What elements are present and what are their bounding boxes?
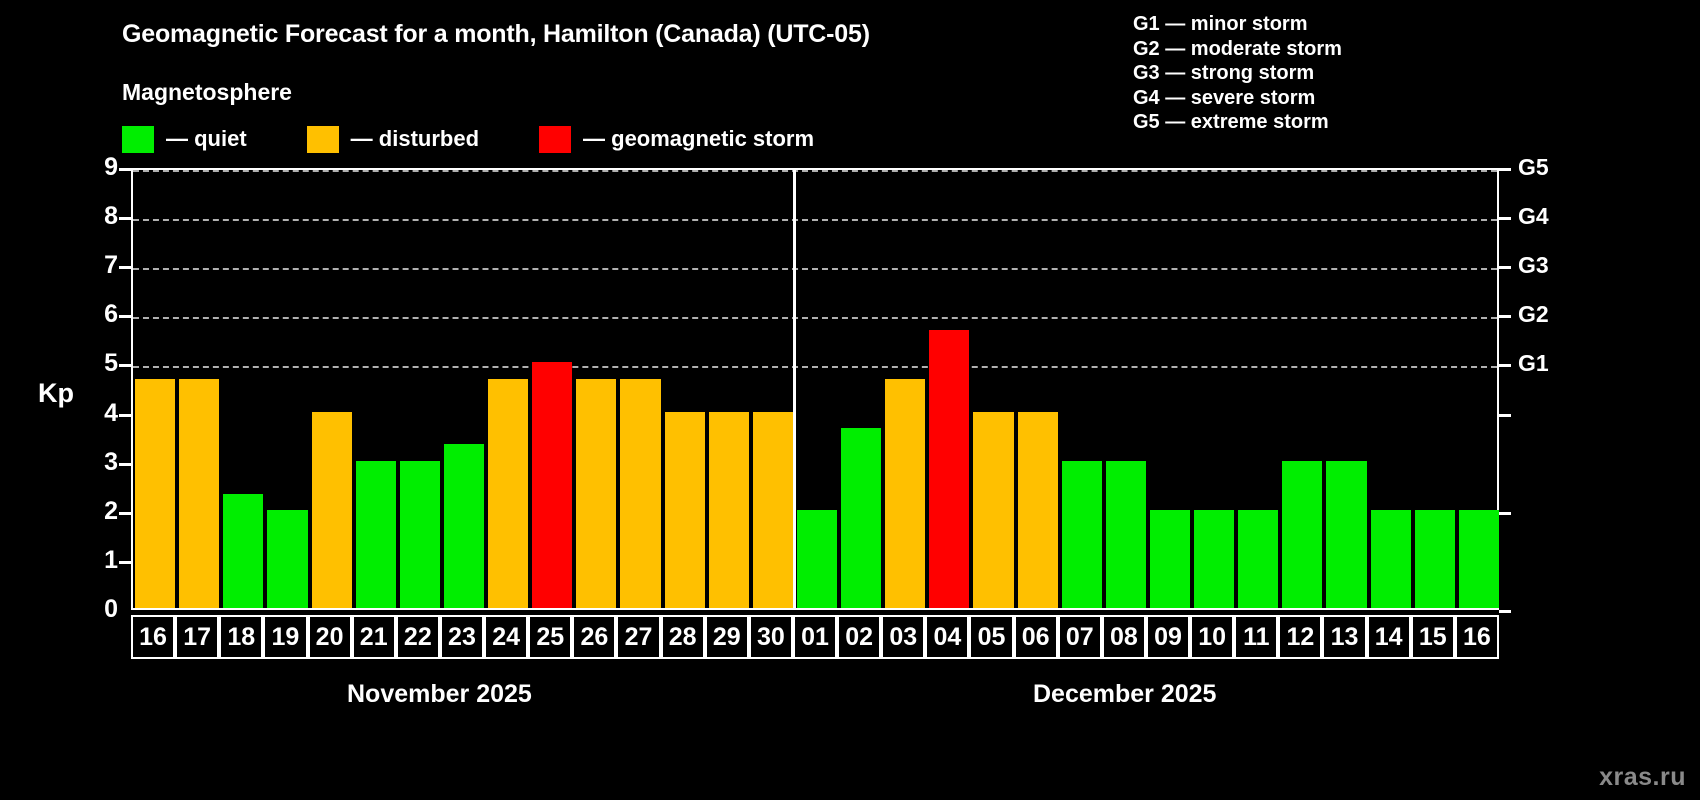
date-label-28[interactable]: 28 — [661, 615, 705, 659]
bar-12[interactable] — [1282, 461, 1322, 608]
date-label-25[interactable]: 25 — [528, 615, 572, 659]
g-scale-row-5: G5 — extreme storm — [1133, 110, 1342, 135]
bar-26[interactable] — [576, 379, 616, 608]
date-label-12[interactable]: 12 — [1278, 615, 1322, 659]
bar-16[interactable] — [135, 379, 175, 608]
page-title: Geomagnetic Forecast for a month, Hamilt… — [122, 20, 870, 49]
date-label-14[interactable]: 14 — [1367, 615, 1411, 659]
y-tick-label-7: 7 — [78, 253, 118, 278]
date-label-18[interactable]: 18 — [219, 615, 263, 659]
legend-label-storm: — geomagnetic storm — [583, 126, 814, 152]
legend-swatch-quiet — [122, 126, 154, 153]
g-axis-minor-mark-0 — [1499, 610, 1511, 613]
date-label-21[interactable]: 21 — [352, 615, 396, 659]
y-tick-label-2: 2 — [78, 499, 118, 524]
month-divider-line — [793, 170, 796, 608]
bar-04[interactable] — [929, 330, 969, 608]
bar-06[interactable] — [1018, 412, 1058, 608]
g-tick-label-G1: G1 — [1518, 352, 1549, 375]
g-tick-mark-G4 — [1499, 217, 1511, 220]
date-label-16[interactable]: 16 — [131, 615, 175, 659]
date-label-04[interactable]: 04 — [925, 615, 969, 659]
legend-item-quiet: — quiet — [122, 124, 247, 154]
y-tick-label-6: 6 — [78, 302, 118, 327]
g-scale-row-1: G1 — minor storm — [1133, 12, 1342, 37]
y-tick-mark-4 — [119, 414, 131, 417]
y-tick-label-3: 3 — [78, 450, 118, 475]
bar-09[interactable] — [1150, 510, 1190, 608]
y-tick-mark-8 — [119, 217, 131, 220]
bar-02[interactable] — [841, 428, 881, 608]
date-label-29[interactable]: 29 — [705, 615, 749, 659]
g-scale-row-2: G2 — moderate storm — [1133, 37, 1342, 62]
g-tick-label-G5: G5 — [1518, 156, 1549, 179]
bar-20[interactable] — [312, 412, 352, 608]
y-tick-mark-5 — [119, 364, 131, 367]
y-tick-mark-1 — [119, 561, 131, 564]
legend-label-disturbed: — disturbed — [351, 126, 479, 152]
y-tick-mark-2 — [119, 512, 131, 515]
date-label-13[interactable]: 13 — [1322, 615, 1366, 659]
watermark: xras.ru — [1599, 763, 1686, 792]
bar-16[interactable] — [1459, 510, 1499, 608]
y-tick-mark-9 — [119, 168, 131, 171]
y-tick-label-0: 0 — [78, 597, 118, 622]
date-label-06[interactable]: 06 — [1014, 615, 1058, 659]
color-legend: — quiet — disturbed — geomagnetic storm — [122, 124, 814, 154]
legend-swatch-disturbed — [307, 126, 339, 153]
bar-29[interactable] — [709, 412, 749, 608]
bar-10[interactable] — [1194, 510, 1234, 608]
bar-14[interactable] — [1371, 510, 1411, 608]
bar-03[interactable] — [885, 379, 925, 608]
g-tick-mark-G2 — [1499, 315, 1511, 318]
bar-17[interactable] — [179, 379, 219, 608]
legend-label-quiet: — quiet — [166, 126, 247, 152]
date-label-30[interactable]: 30 — [749, 615, 793, 659]
g-scale-row-3: G3 — strong storm — [1133, 61, 1342, 86]
g-tick-mark-G3 — [1499, 266, 1511, 269]
bar-18[interactable] — [223, 494, 263, 608]
magnetosphere-label: Magnetosphere — [122, 79, 292, 106]
date-label-20[interactable]: 20 — [308, 615, 352, 659]
legend-item-storm: — geomagnetic storm — [539, 124, 814, 154]
bar-23[interactable] — [444, 444, 484, 608]
bar-30[interactable] — [753, 412, 793, 608]
y-tick-label-5: 5 — [78, 351, 118, 376]
date-label-02[interactable]: 02 — [837, 615, 881, 659]
plot-area — [131, 168, 1499, 610]
bar-22[interactable] — [400, 461, 440, 608]
date-label-27[interactable]: 27 — [616, 615, 660, 659]
y-tick-mark-6 — [119, 315, 131, 318]
legend-swatch-storm — [539, 126, 571, 153]
date-label-11[interactable]: 11 — [1234, 615, 1278, 659]
date-label-05[interactable]: 05 — [969, 615, 1013, 659]
g-axis-minor-mark-2 — [1499, 512, 1511, 515]
bar-11[interactable] — [1238, 510, 1278, 608]
date-label-17[interactable]: 17 — [175, 615, 219, 659]
y-tick-label-4: 4 — [78, 401, 118, 426]
date-label-row: 1617181920212223242526272829300102030405… — [131, 615, 1499, 659]
bar-25[interactable] — [532, 362, 572, 608]
bar-13[interactable] — [1326, 461, 1366, 608]
bar-05[interactable] — [973, 412, 1013, 608]
date-label-07[interactable]: 07 — [1058, 615, 1102, 659]
date-label-22[interactable]: 22 — [396, 615, 440, 659]
date-label-24[interactable]: 24 — [484, 615, 528, 659]
date-label-15[interactable]: 15 — [1411, 615, 1455, 659]
bar-21[interactable] — [356, 461, 396, 608]
y-tick-label-8: 8 — [78, 204, 118, 229]
y-axis-title: Kp — [38, 378, 74, 409]
month-caption-november: November 2025 — [347, 680, 532, 709]
g-scale-row-4: G4 — severe storm — [1133, 86, 1342, 111]
bar-24[interactable] — [488, 379, 528, 608]
date-label-08[interactable]: 08 — [1102, 615, 1146, 659]
date-label-19[interactable]: 19 — [263, 615, 307, 659]
y-tick-label-1: 1 — [78, 548, 118, 573]
g-tick-label-G3: G3 — [1518, 254, 1549, 277]
g-tick-mark-G5 — [1499, 168, 1511, 171]
y-tick-mark-7 — [119, 266, 131, 269]
bars-layer — [133, 170, 1497, 608]
legend-item-disturbed: — disturbed — [307, 124, 479, 154]
y-tick-label-9: 9 — [78, 155, 118, 180]
g-tick-label-G4: G4 — [1518, 205, 1549, 228]
date-label-10[interactable]: 10 — [1190, 615, 1234, 659]
plot-inner — [133, 170, 1497, 608]
month-caption-december: December 2025 — [1033, 680, 1216, 709]
bar-01[interactable] — [797, 510, 837, 608]
y-tick-mark-3 — [119, 463, 131, 466]
bar-19[interactable] — [267, 510, 307, 608]
g-axis-minor-mark-4 — [1499, 414, 1511, 417]
g-tick-label-G2: G2 — [1518, 303, 1549, 326]
bar-27[interactable] — [620, 379, 660, 608]
g-tick-mark-G1 — [1499, 364, 1511, 367]
date-label-09[interactable]: 09 — [1146, 615, 1190, 659]
bar-08[interactable] — [1106, 461, 1146, 608]
date-label-26[interactable]: 26 — [572, 615, 616, 659]
bar-28[interactable] — [665, 412, 705, 608]
date-label-01[interactable]: 01 — [793, 615, 837, 659]
bar-15[interactable] — [1415, 510, 1455, 608]
date-label-03[interactable]: 03 — [881, 615, 925, 659]
bar-07[interactable] — [1062, 461, 1102, 608]
date-label-23[interactable]: 23 — [440, 615, 484, 659]
g-scale-legend: G1 — minor stormG2 — moderate stormG3 — … — [1133, 12, 1342, 135]
date-label-16[interactable]: 16 — [1455, 615, 1499, 659]
